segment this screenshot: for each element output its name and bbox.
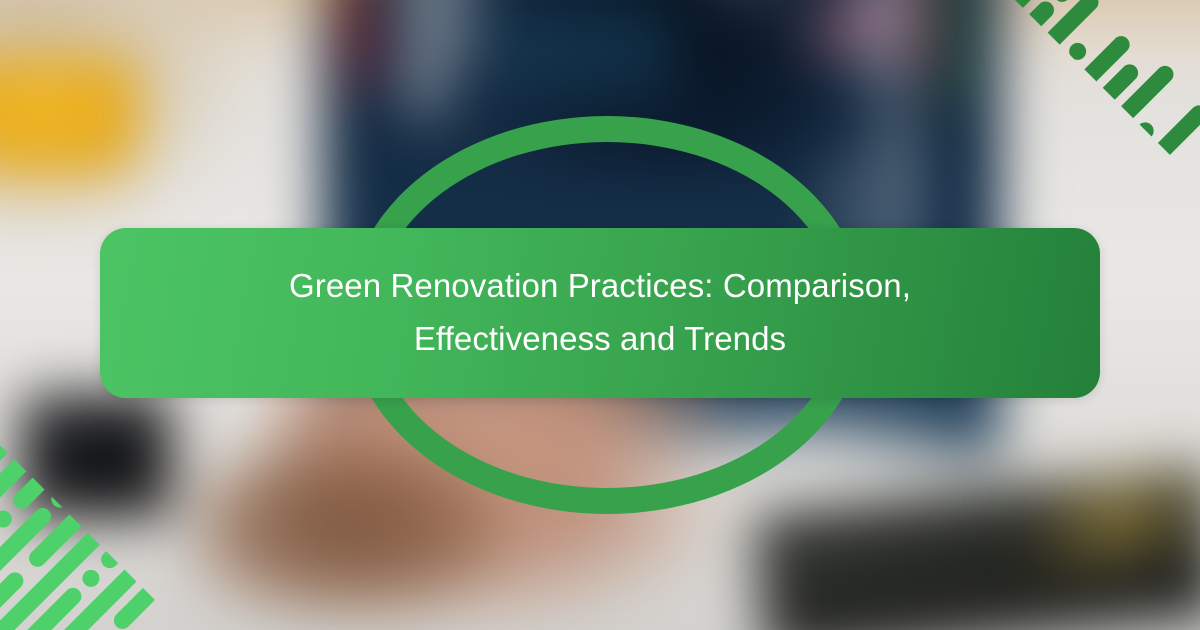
board-component-gray-right	[876, 0, 904, 108]
board-component-red-left	[346, 0, 374, 87]
banner-canvas: Green Renovation Practices: Comparison, …	[0, 0, 1200, 630]
board-component-white2	[770, 0, 781, 9]
page-title: Green Renovation Practices: Comparison, …	[240, 260, 960, 366]
title-banner: Green Renovation Practices: Comparison, …	[100, 228, 1100, 398]
yellow-mug	[0, 57, 140, 176]
board-component-gold	[324, 0, 339, 13]
board-component-red-right	[920, 0, 937, 92]
board-component-green-right	[941, 0, 966, 108]
board-trace-pink	[807, 0, 934, 61]
background-camera-device	[22, 395, 170, 517]
board-component-teal	[494, 2, 674, 97]
board-component-gray-left2	[452, 0, 475, 66]
board-component-gray-left	[404, 0, 446, 117]
